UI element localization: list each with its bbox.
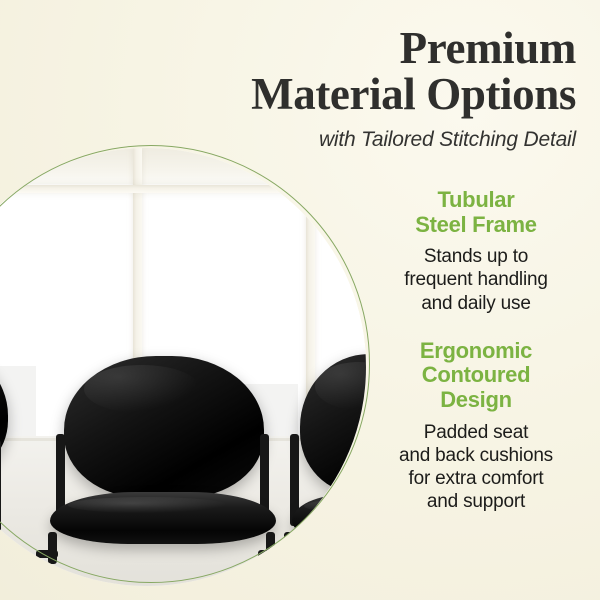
feature-title-line-2: Contoured <box>422 362 531 387</box>
chair-frame-glide-right <box>258 550 280 558</box>
feature-title-line-2: Steel Frame <box>415 212 536 237</box>
chair-seat-cushion <box>50 492 276 544</box>
photo-scene <box>0 148 366 586</box>
chair-seat-cushion <box>292 494 366 542</box>
feature-title-line-1: Tubular <box>438 187 515 212</box>
page-subtitle: with Tailored Stitching Detail <box>156 128 576 151</box>
feature-item-tubular-steel-frame: Tubular Steel Frame Stands up to frequen… <box>376 188 576 315</box>
feature-body-line-1: Stands up to <box>424 246 528 267</box>
feature-body: Stands up to frequent handling and daily… <box>376 245 576 315</box>
feature-list: Tubular Steel Frame Stands up to frequen… <box>376 188 576 537</box>
title-line-2: Material Options <box>251 69 576 119</box>
chair-frame-foot-left <box>48 532 57 564</box>
page-title: Premium Material Options <box>156 26 576 118</box>
chair-back-cushion <box>300 354 366 494</box>
feature-body: Padded seat and back cushions for extra … <box>376 421 576 514</box>
chair-back-cushion <box>0 348 8 478</box>
product-photo <box>0 148 366 586</box>
feature-title: Tubular Steel Frame <box>376 188 576 237</box>
feature-body-line-3: and daily use <box>421 293 530 314</box>
headline-block: Premium Material Options with Tailored S… <box>156 26 576 151</box>
chair-back-cushion <box>64 356 264 498</box>
feature-body-line-3: for extra comfort <box>409 468 544 489</box>
chair-left <box>0 348 20 548</box>
feature-body-line-4: and support <box>427 491 525 512</box>
feature-title-line-3: Design <box>440 387 512 412</box>
product-feature-card: Premium Material Options with Tailored S… <box>0 0 600 600</box>
feature-body-line-2: frequent handling <box>404 269 547 290</box>
feature-item-ergonomic-contoured-design: Ergonomic Contoured Design Padded seat a… <box>376 339 576 514</box>
feature-title: Ergonomic Contoured Design <box>376 339 576 413</box>
window-mullion-horizontal <box>0 185 366 193</box>
chair-right <box>286 354 366 564</box>
chair-frame-foot <box>284 532 293 562</box>
chair-frame-glide-left <box>36 550 58 558</box>
feature-body-line-1: Padded seat <box>424 422 529 443</box>
title-line-1: Premium <box>400 23 576 73</box>
feature-body-line-2: and back cushions <box>399 445 553 466</box>
feature-title-line-1: Ergonomic <box>420 338 532 363</box>
chair-frame-post <box>0 440 1 532</box>
chair-center <box>52 356 302 584</box>
chair-frame-foot-right <box>266 532 275 564</box>
